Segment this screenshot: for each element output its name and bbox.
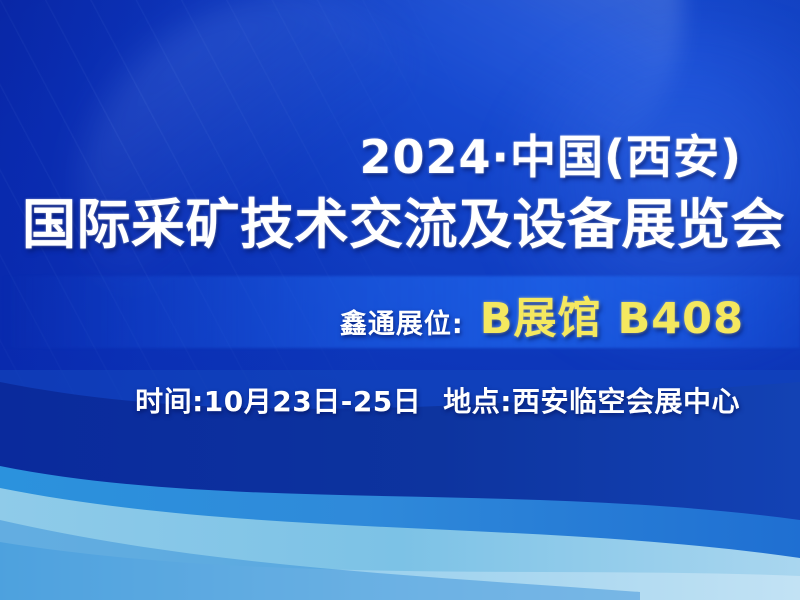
title-main: 国际采矿技术交流及设备展览会 — [22, 180, 744, 259]
title-year-location: 2024·中国(西安) — [359, 121, 742, 187]
booth-number: B展馆 B408 — [480, 284, 744, 346]
footer-line: 时间:10月23日-25日 地点:西安临空会展中心 — [0, 380, 740, 420]
booth-label: 鑫通展位: — [340, 302, 464, 341]
banner-content: 2024·中国(西安) 国际采矿技术交流及设备展览会 鑫通展位: B展馆 B40… — [0, 0, 800, 600]
event-venue: 地点:西安临空会展中心 — [443, 380, 740, 420]
booth-line: 鑫通展位: B展馆 B408 — [0, 284, 744, 346]
event-date: 时间:10月23日-25日 — [135, 380, 421, 420]
exhibition-banner: 2024·中国(西安) 国际采矿技术交流及设备展览会 鑫通展位: B展馆 B40… — [0, 0, 800, 600]
